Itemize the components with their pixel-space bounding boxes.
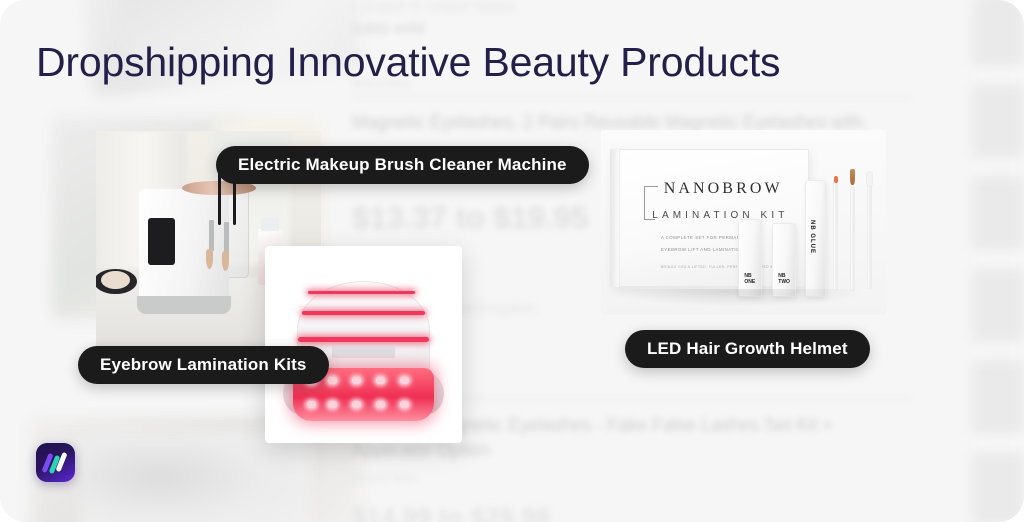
helmet-led-dot [328,377,337,384]
helmet-led-dot [376,377,385,384]
backdrop-right-rail [972,0,1024,522]
decorative-rule [644,186,645,219]
helmet-led-strip [308,291,414,294]
helmet-led-strip [298,337,428,342]
cleaner-base [137,296,232,314]
spoolie-head [866,171,873,188]
nanobrow-tube-one: NB ONE [738,219,762,297]
nanobrow-tube-two-label: NB TWO [778,273,790,285]
cleaner-display [148,218,175,265]
helmet-led-dot [376,401,385,408]
nanobrow-box-edge [610,149,620,288]
nanobrow-subtitle-text: LAMINATION KIT [652,210,788,221]
backdrop-price-top: $13.37 to $19.95 [352,200,588,236]
helmet-led-strip [302,311,424,315]
nanobrow-tube-glue-label: NB GLUE [809,220,815,254]
backdrop-photo-eyelash [80,430,310,522]
label-eyebrow-lamination-kits: Eyebrow Lamination Kits [78,346,329,384]
helmet-led-dot [352,377,361,384]
product-shadow [612,289,863,306]
applicator-wand-tip [834,176,838,183]
backdrop-price-bottom: $14.99 to $29.99 [352,502,550,522]
backdrop-sold-count: 3,631 sold [352,20,425,37]
product-image-nanobrow-kit: NANOBROW LAMINATION KIT A COMPLETE SET F… [601,130,886,315]
helmet-brand-plate [332,346,395,358]
angled-brush-bristles [850,169,855,185]
helmet-led-dot [328,401,337,408]
backdrop-divider-top [352,96,912,98]
label-led-hair-growth-helmet: LED Hair Growth Helmet [625,330,870,368]
nanobrow-tube-glue: NB GLUE [805,180,826,297]
brush-ferrule [224,222,229,253]
nanobrow-tube-one-label: NB ONE [744,273,755,285]
decorative-rule [644,186,658,187]
brush-ferrule [209,220,214,251]
promo-card: Located in United States 3,631 sold Magn… [0,0,1024,522]
product-image-led-helmet [265,246,462,443]
nanobrow-fineprint-2: EYEBROW LIFT AND LAMINATION [661,247,744,252]
backdrop-condition-bottom: Brand New [352,470,416,485]
backdrop-item-title-bottom-line2: Applicator Option [352,440,490,461]
page-title: Dropshipping Innovative Beauty Products [36,36,780,88]
helmet-led-dot [352,401,361,408]
brand-logo-icon[interactable] [36,443,75,482]
label-electric-makeup-brush-cleaner-machine: Electric Makeup Brush Cleaner Machine [216,146,589,184]
nanobrow-brand-text: NANOBROW [664,180,783,198]
perfume-cap [261,218,279,231]
nanobrow-tube-two: NB TWO [772,223,796,297]
powder-compact-pan [101,271,130,289]
applicator-wand [833,180,838,291]
backdrop-located-in: Located in United States [352,0,515,15]
angled-brush [850,187,855,291]
helmet-led-dot [400,401,409,408]
helmet-led-dot [307,401,316,408]
spoolie-wand [867,182,872,289]
backdrop-item-title-bottom-line1: Magnetic Eyelashes - Fake False Lashes S… [430,415,833,436]
helmet-led-dot [400,377,409,384]
